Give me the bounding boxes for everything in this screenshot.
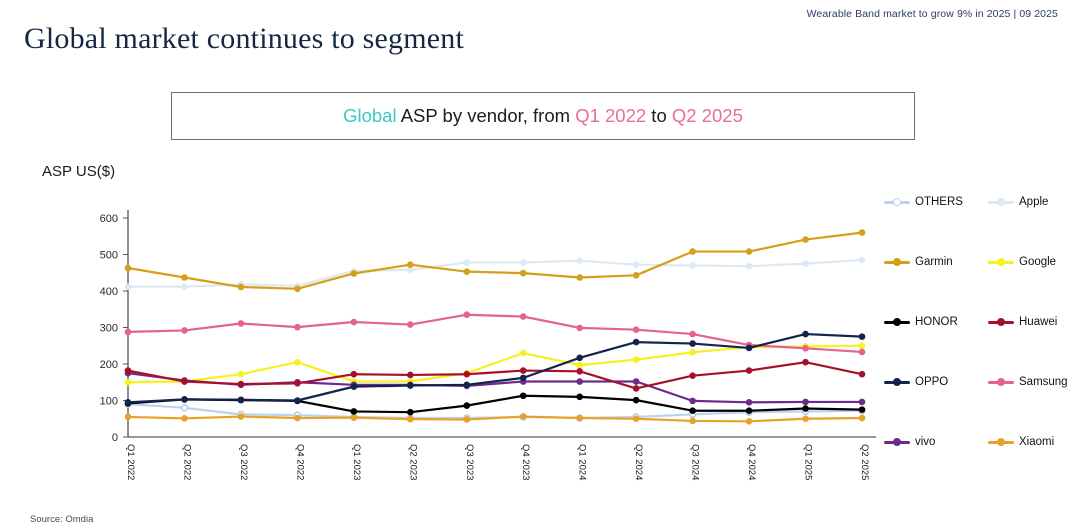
data-point (520, 393, 526, 399)
data-point (125, 414, 131, 420)
legend-item-google[interactable]: Google (988, 256, 1056, 268)
legend-marker-icon (893, 258, 901, 266)
data-point (238, 414, 244, 420)
x-axis-tick: Q2 2025 (859, 444, 870, 480)
legend-item-vivo[interactable]: vivo (884, 436, 935, 448)
data-point (859, 343, 865, 349)
legend-swatch-icon (988, 321, 1014, 324)
legend-item-garmin[interactable]: Garmin (884, 256, 953, 268)
x-axis-tick: Q2 2023 (407, 444, 418, 480)
legend-marker-icon (893, 438, 901, 446)
data-point (182, 284, 188, 290)
data-point (803, 416, 809, 422)
data-point (520, 375, 526, 381)
data-point (859, 230, 865, 236)
legend-item-others[interactable]: OTHERS (884, 196, 963, 208)
legend-item-label: Xiaomi (1019, 436, 1054, 448)
data-point (351, 371, 357, 377)
legend-marker-icon (997, 198, 1005, 206)
data-point (238, 284, 244, 290)
data-point (690, 408, 696, 414)
legend-item-samsung[interactable]: Samsung (988, 376, 1068, 388)
data-point (238, 381, 244, 387)
source-note: Source: Omdia (30, 514, 93, 525)
data-point (859, 415, 865, 421)
legend-item-honor[interactable]: HONOR (884, 316, 958, 328)
data-point (125, 368, 131, 374)
data-point (577, 362, 583, 368)
data-point (803, 345, 809, 351)
series-samsung (125, 312, 865, 355)
legend-swatch-icon (988, 441, 1014, 444)
data-point (294, 398, 300, 404)
data-point (577, 355, 583, 361)
data-point (182, 415, 188, 421)
x-axis-tick: Q3 2024 (690, 444, 701, 480)
legend-marker-icon (997, 438, 1005, 446)
series-oppo (125, 331, 865, 405)
data-point (690, 349, 696, 355)
data-point (464, 260, 470, 266)
data-point (633, 386, 639, 392)
data-point (464, 417, 470, 423)
x-axis-tick: Q1 2023 (351, 444, 362, 480)
data-point (520, 260, 526, 266)
legend-item-label: OTHERS (915, 196, 963, 208)
data-point (464, 403, 470, 409)
legend-marker-icon (997, 378, 1005, 386)
data-point (464, 382, 470, 388)
data-point (577, 258, 583, 264)
data-point (520, 368, 526, 374)
legend-item-oppo[interactable]: OPPO (884, 376, 948, 388)
data-point (577, 415, 583, 421)
data-point (859, 399, 865, 405)
data-point (294, 324, 300, 330)
data-point (633, 262, 639, 268)
data-point (182, 275, 188, 281)
data-point (803, 406, 809, 412)
data-point (294, 286, 300, 292)
data-point (464, 312, 470, 318)
legend-item-label: OPPO (915, 376, 948, 388)
series-google (125, 343, 865, 385)
data-point (182, 405, 188, 411)
y-axis-tick: 0 (112, 432, 118, 444)
data-point (633, 397, 639, 403)
data-point (238, 397, 244, 403)
data-point (633, 339, 639, 345)
y-axis-tick: 100 (100, 396, 118, 408)
data-point (125, 399, 131, 405)
data-point (803, 261, 809, 267)
data-point (351, 271, 357, 277)
legend-swatch-icon (884, 321, 910, 324)
data-point (746, 399, 752, 405)
data-point (859, 407, 865, 413)
legend-marker-icon (893, 198, 901, 206)
data-point (746, 368, 752, 374)
legend-swatch-icon (884, 381, 910, 384)
data-point (577, 325, 583, 331)
legend-marker-icon (893, 318, 901, 326)
data-point (859, 371, 865, 377)
data-point (690, 418, 696, 424)
legend-swatch-icon (988, 381, 1014, 384)
data-point (182, 328, 188, 334)
y-axis-tick: 300 (100, 323, 118, 335)
data-point (690, 331, 696, 337)
data-point (125, 284, 131, 290)
slide-root: Wearable Band market to grow 9% in 2025 … (0, 0, 1080, 532)
data-point (859, 349, 865, 355)
data-point (633, 357, 639, 363)
data-point (238, 321, 244, 327)
x-axis-tick: Q2 2022 (181, 444, 192, 480)
legend-swatch-icon (988, 201, 1014, 204)
data-point (746, 263, 752, 269)
legend-item-xiaomi[interactable]: Xiaomi (988, 436, 1054, 448)
data-point (803, 237, 809, 243)
chart-legend: OTHERSAppleGarminGoogleHONORHuaweiOPPOSa… (884, 196, 1080, 474)
data-point (182, 397, 188, 403)
x-axis-tick: Q4 2024 (746, 444, 757, 480)
data-point (351, 319, 357, 325)
legend-item-label: vivo (915, 436, 935, 448)
data-point (182, 379, 188, 385)
legend-marker-icon (893, 378, 901, 386)
legend-item-label: Huawei (1019, 316, 1057, 328)
legend-item-label: Samsung (1019, 376, 1068, 388)
data-point (294, 415, 300, 421)
data-point (125, 329, 131, 335)
data-point (125, 265, 131, 271)
series-garmin (125, 230, 865, 292)
data-point (690, 373, 696, 379)
x-axis-tick: Q1 2022 (125, 444, 136, 480)
data-point (520, 314, 526, 320)
data-point (464, 371, 470, 377)
legend-item-huawei[interactable]: Huawei (988, 316, 1057, 328)
data-point (690, 249, 696, 255)
data-point (464, 269, 470, 275)
y-axis-tick: 600 (100, 213, 118, 225)
data-point (690, 263, 696, 269)
legend-marker-icon (997, 258, 1005, 266)
data-point (577, 394, 583, 400)
data-point (859, 334, 865, 340)
data-point (690, 341, 696, 347)
data-point (803, 331, 809, 337)
data-point (407, 372, 413, 378)
legend-item-label: HONOR (915, 316, 958, 328)
data-point (859, 257, 865, 263)
data-point (407, 383, 413, 389)
legend-item-label: Garmin (915, 256, 953, 268)
data-point (577, 379, 583, 385)
x-axis-tick: Q3 2023 (464, 444, 475, 480)
data-point (803, 359, 809, 365)
legend-swatch-icon (884, 201, 910, 204)
data-point (633, 272, 639, 278)
legend-marker-icon (997, 318, 1005, 326)
data-point (803, 399, 809, 405)
x-axis-tick: Q1 2025 (803, 444, 814, 480)
data-point (633, 379, 639, 385)
data-point (633, 416, 639, 422)
legend-item-label: Apple (1019, 196, 1048, 208)
data-point (407, 416, 413, 422)
data-point (633, 327, 639, 333)
data-point (351, 409, 357, 415)
data-point (351, 415, 357, 421)
x-axis-tick: Q4 2022 (294, 444, 305, 480)
data-point (407, 322, 413, 328)
data-point (690, 398, 696, 404)
x-axis-tick: Q3 2022 (238, 444, 249, 480)
data-point (407, 409, 413, 415)
data-point (294, 380, 300, 386)
x-axis-tick: Q4 2023 (520, 444, 531, 480)
data-point (520, 350, 526, 356)
data-point (577, 275, 583, 281)
data-point (294, 359, 300, 365)
data-point (746, 408, 752, 414)
legend-swatch-icon (884, 261, 910, 264)
x-axis-tick: Q2 2024 (633, 444, 644, 480)
y-axis-tick: 400 (100, 286, 118, 298)
series-xiaomi (125, 414, 865, 425)
data-point (520, 270, 526, 276)
data-point (746, 345, 752, 351)
data-point (238, 371, 244, 377)
data-point (577, 368, 583, 374)
data-point (520, 414, 526, 420)
legend-swatch-icon (884, 441, 910, 444)
data-point (746, 249, 752, 255)
legend-item-label: Google (1019, 256, 1056, 268)
legend-swatch-icon (988, 261, 1014, 264)
y-axis-tick: 200 (100, 359, 118, 371)
data-point (351, 384, 357, 390)
x-axis-tick: Q1 2024 (577, 444, 588, 480)
legend-item-apple[interactable]: Apple (988, 196, 1048, 208)
data-point (746, 418, 752, 424)
data-point (407, 262, 413, 268)
y-axis-tick: 500 (100, 250, 118, 262)
data-point (125, 379, 131, 385)
